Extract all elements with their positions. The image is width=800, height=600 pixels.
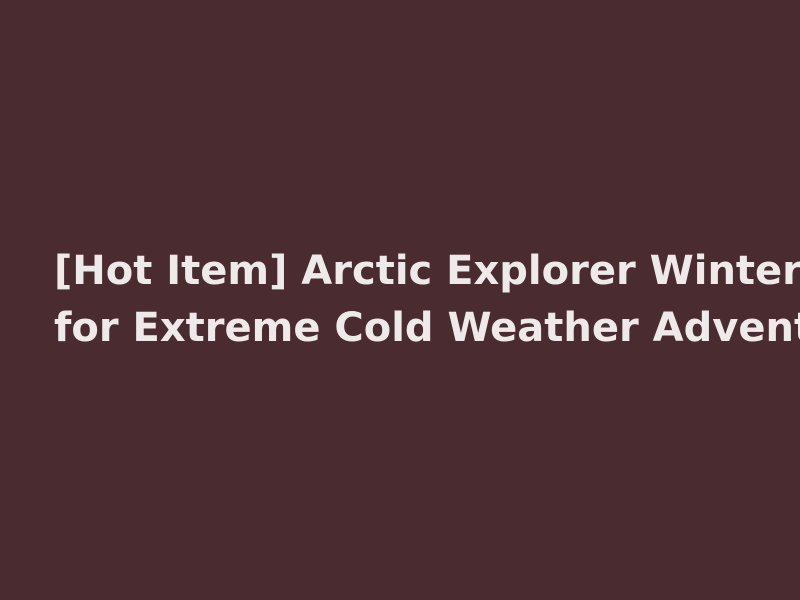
page-title-line-1: [Hot Item] Arctic Explorer Winter Hat	[54, 243, 770, 300]
page-title: [Hot Item] Arctic Explorer Winter Hat fo…	[54, 243, 770, 357]
page-title-line-2: for Extreme Cold Weather Adventures	[54, 300, 770, 357]
page-canvas: [Hot Item] Arctic Explorer Winter Hat fo…	[0, 0, 800, 600]
